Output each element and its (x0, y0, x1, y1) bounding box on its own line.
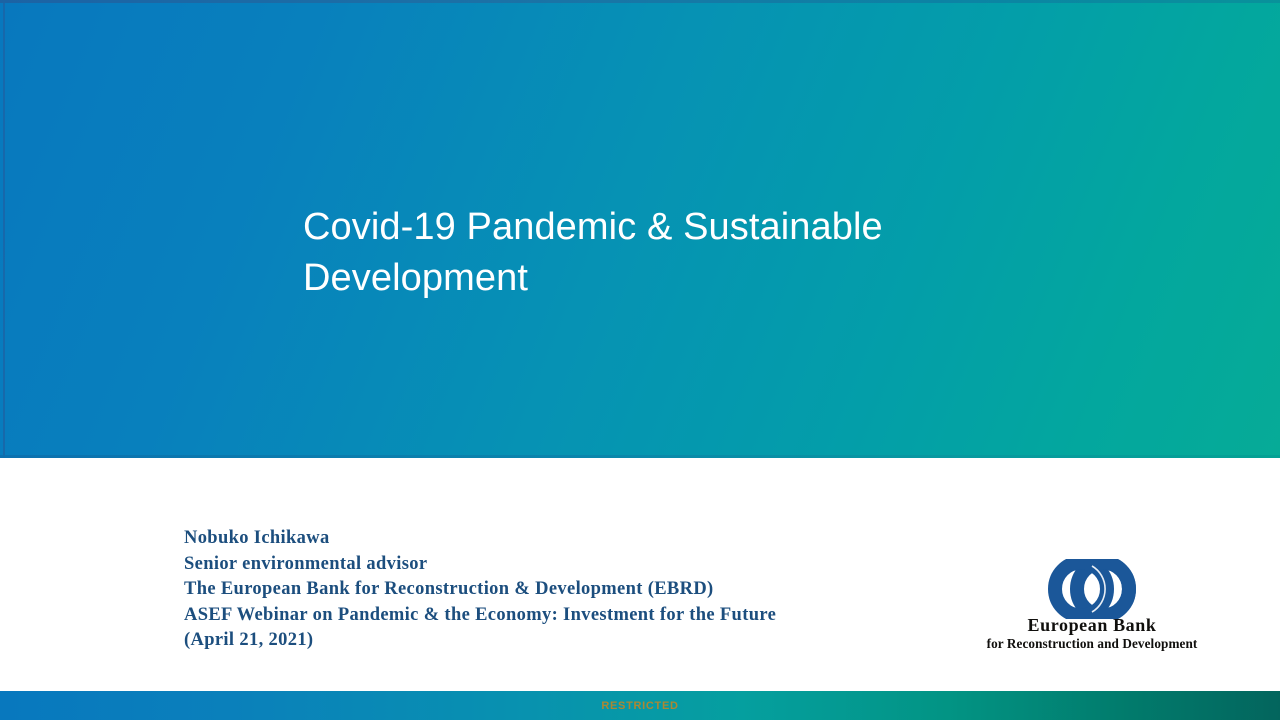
author-organization: The European Bank for Reconstruction & D… (184, 577, 884, 603)
slide-title: Covid-19 Pandemic & Sustainable Developm… (303, 202, 1003, 304)
footer-bar: RESTRICTED (0, 691, 1280, 720)
author-details-block: Nobuko Ichikawa Senior environmental adv… (184, 526, 884, 654)
event-name: ASEF Webinar on Pandemic & the Economy: … (184, 603, 884, 629)
restricted-classification-label: RESTRICTED (601, 700, 678, 712)
presentation-slide: Covid-19 Pandemic & Sustainable Developm… (0, 0, 1280, 720)
banner-bottom-rule (0, 455, 1280, 458)
event-date: (April 21, 2021) (184, 628, 884, 654)
ebrd-rings-svg (1039, 559, 1145, 619)
ebrd-interlocking-rings-icon (963, 558, 1221, 620)
banner-top-rule (0, 0, 1280, 3)
ebrd-logo: European Bank for Reconstruction and Dev… (963, 558, 1221, 658)
author-name: Nobuko Ichikawa (184, 526, 884, 552)
logo-tagline: for Reconstruction and Development (963, 636, 1221, 651)
ebrd-wordmark: European Bank for Reconstruction and Dev… (963, 616, 1221, 651)
title-block: Covid-19 Pandemic & Sustainable Developm… (303, 202, 1003, 304)
logo-bank-name: European Bank (963, 616, 1221, 635)
author-role: Senior environmental advisor (184, 552, 884, 578)
banner-left-rule (3, 0, 5, 458)
